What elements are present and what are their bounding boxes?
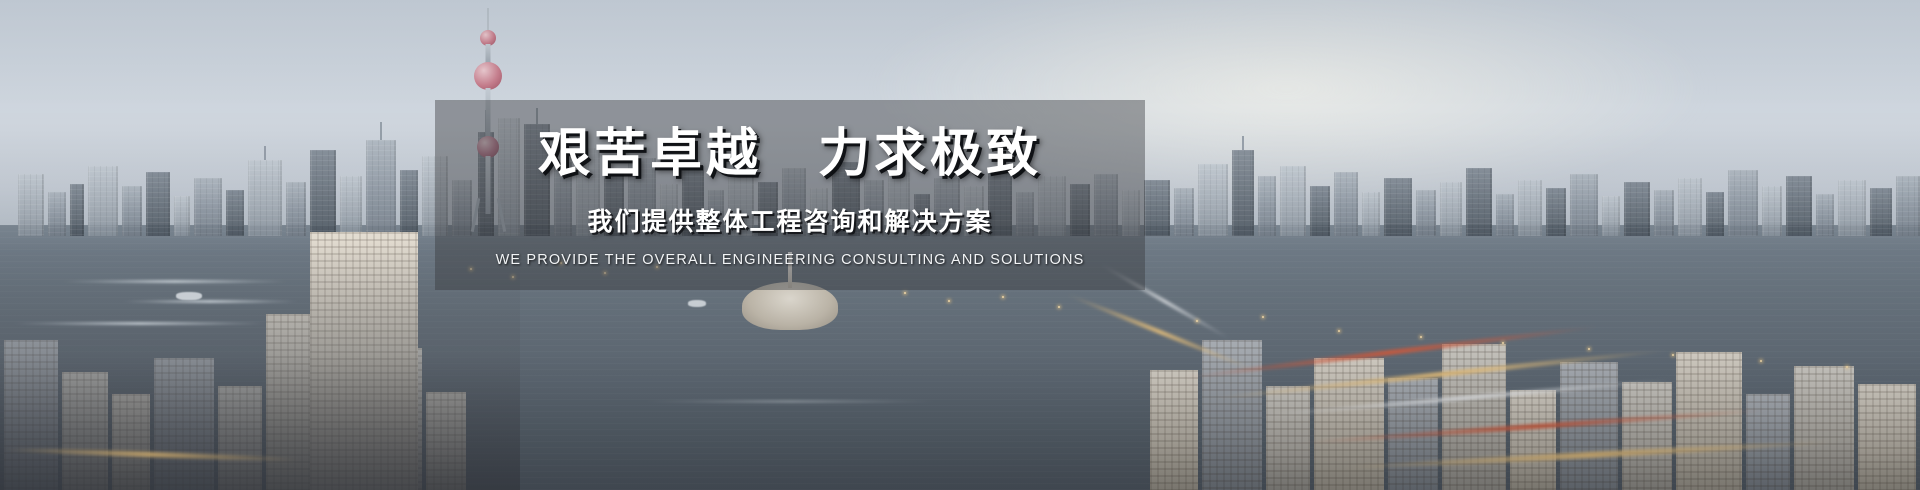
- boat: [176, 292, 202, 300]
- hero-banner: 艰苦卓越 力求极致 我们提供整体工程咨询和解决方案 WE PROVIDE THE…: [0, 0, 1920, 490]
- hero-headline: 艰苦卓越 力求极致: [538, 126, 1042, 182]
- water-wake: [60, 280, 290, 283]
- hero-tagline-english: WE PROVIDE THE OVERALL ENGINEERING CONSU…: [496, 252, 1085, 268]
- hero-text-block: 艰苦卓越 力求极致 我们提供整体工程咨询和解决方案 WE PROVIDE THE…: [435, 100, 1145, 290]
- hero-subheadline: 我们提供整体工程咨询和解决方案: [587, 202, 992, 238]
- water-wake: [120, 300, 300, 303]
- water-wake: [10, 322, 270, 325]
- water-wake: [640, 400, 940, 403]
- boat: [688, 300, 706, 307]
